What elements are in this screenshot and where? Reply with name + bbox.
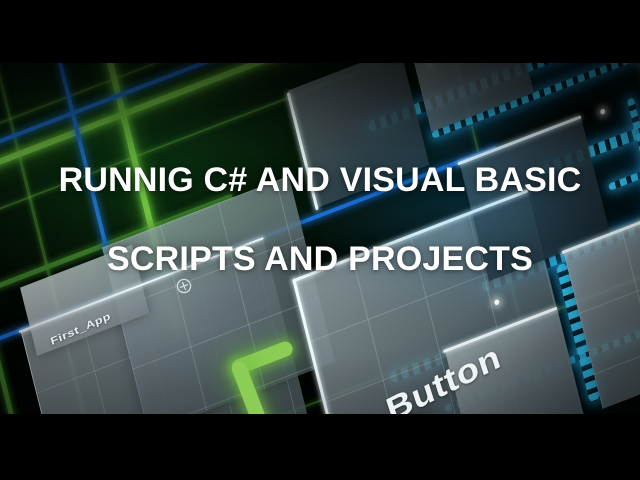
letterbox-bar-bottom <box>0 414 640 480</box>
glow-dot <box>600 108 606 115</box>
letterbox-bar-top <box>0 0 640 63</box>
background-artwork: First_App Button <box>0 63 640 414</box>
isometric-board <box>0 63 640 414</box>
title-card: First_App Button RUNNIG C# AND VISUAL BA… <box>0 0 640 480</box>
